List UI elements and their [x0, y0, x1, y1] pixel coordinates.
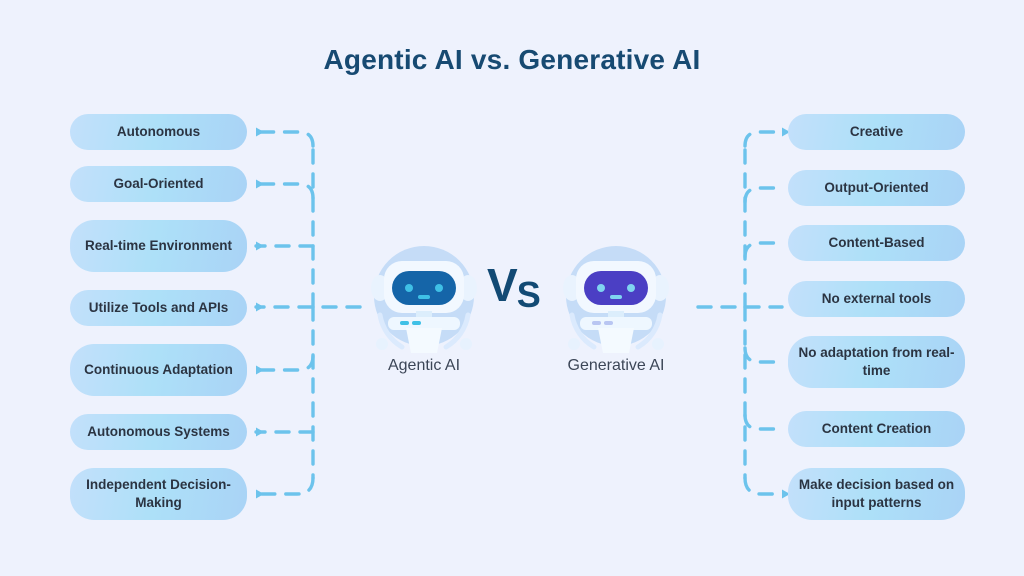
left-item-2[interactable]: Goal-Oriented [70, 166, 247, 202]
left-item-7-label: Independent Decision-Making [80, 476, 237, 512]
connector-right-1 [745, 132, 782, 146]
left-item-6[interactable]: Autonomous Systems [70, 414, 247, 450]
connector-left-1 [256, 132, 313, 146]
right-item-2[interactable]: Output-Oriented [788, 170, 965, 206]
right-item-5-label: No adaptation from real-time [798, 344, 955, 380]
generative-ai-block: Generative AI [550, 243, 682, 375]
connector-left-7 [256, 478, 313, 494]
left-item-5-label: Continuous Adaptation [84, 361, 233, 379]
right-item-1-label: Creative [850, 123, 903, 141]
left-item-4-label: Utilize Tools and APIs [89, 299, 229, 317]
left-item-7[interactable]: Independent Decision-Making [70, 468, 247, 520]
agentic-ai-robot-icon [358, 243, 490, 353]
connector-right-2 [745, 188, 782, 202]
right-item-6-label: Content Creation [822, 420, 932, 438]
right-item-7[interactable]: Make decision based on input patterns [788, 468, 965, 520]
connector-right-6 [745, 415, 782, 429]
left-item-6-label: Autonomous Systems [87, 423, 230, 441]
right-item-1[interactable]: Creative [788, 114, 965, 150]
connector-right-7 [745, 478, 782, 494]
vs-mark: VS [487, 262, 540, 313]
left-item-3-label: Real-time Environment [85, 237, 232, 255]
agentic-ai-block: Agentic AI [358, 243, 490, 375]
right-item-6[interactable]: Content Creation [788, 411, 965, 447]
connector-left-5 [256, 356, 313, 370]
generative-ai-caption: Generative AI [550, 357, 682, 375]
left-item-5[interactable]: Continuous Adaptation [70, 344, 247, 396]
right-item-7-label: Make decision based on input patterns [798, 476, 955, 512]
agentic-ai-caption: Agentic AI [358, 357, 490, 375]
vs-letter-s: S [517, 274, 540, 315]
left-item-4[interactable]: Utilize Tools and APIs [70, 290, 247, 326]
vs-letter-v: V [487, 259, 517, 311]
right-item-5[interactable]: No adaptation from real-time [788, 336, 965, 388]
generative-ai-robot-icon [550, 243, 682, 353]
left-item-3[interactable]: Real-time Environment [70, 220, 247, 272]
right-item-3[interactable]: Content-Based [788, 225, 965, 261]
connector-left-2 [256, 184, 313, 198]
connector-right-3 [745, 243, 782, 257]
right-item-3-label: Content-Based [828, 234, 924, 252]
left-item-1[interactable]: Autonomous [70, 114, 247, 150]
connector-right-5 [745, 348, 782, 362]
right-item-4-label: No external tools [822, 290, 932, 308]
left-item-1-label: Autonomous [117, 123, 200, 141]
right-item-2-label: Output-Oriented [824, 179, 928, 197]
right-item-4[interactable]: No external tools [788, 281, 965, 317]
left-item-2-label: Goal-Oriented [113, 175, 203, 193]
